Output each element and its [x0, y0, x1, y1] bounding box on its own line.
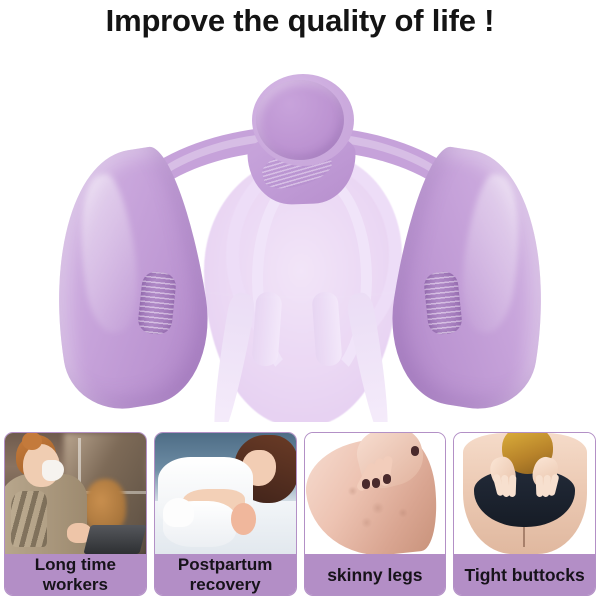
device-roller-left	[137, 270, 177, 335]
mother-with-newborn-photo	[155, 433, 296, 554]
page-title: Improve the quality of life !	[0, 2, 600, 40]
benefit-card-caption: Long time workers	[5, 554, 146, 595]
benefit-card-caption: Postpartum recovery	[155, 554, 296, 595]
benefit-card-caption: Tight buttocks	[454, 554, 595, 595]
benefit-card-caption: skinny legs	[305, 554, 446, 595]
benefit-card-postpartum-recovery[interactable]: Postpartum recovery	[154, 432, 297, 596]
benefit-card-skinny-legs[interactable]: skinny legs	[304, 432, 447, 596]
product-listing-image: Improve the quality of life !	[0, 0, 600, 600]
hero-product-area	[0, 40, 600, 422]
benefit-card-long-time-workers[interactable]: Long time workers	[4, 432, 147, 596]
hip-trainer-device	[0, 40, 600, 422]
benefit-card-tight-buttocks[interactable]: Tight buttocks	[453, 432, 596, 596]
buttocks-in-briefs-photo	[454, 433, 595, 554]
device-round-knob	[256, 80, 344, 160]
device-roller-right	[423, 270, 463, 335]
benefit-cards-row: Long time workers Postpartum recovery	[4, 432, 596, 596]
cellulite-thigh-photo	[305, 433, 446, 554]
office-worker-at-laptop-photo	[5, 433, 146, 554]
